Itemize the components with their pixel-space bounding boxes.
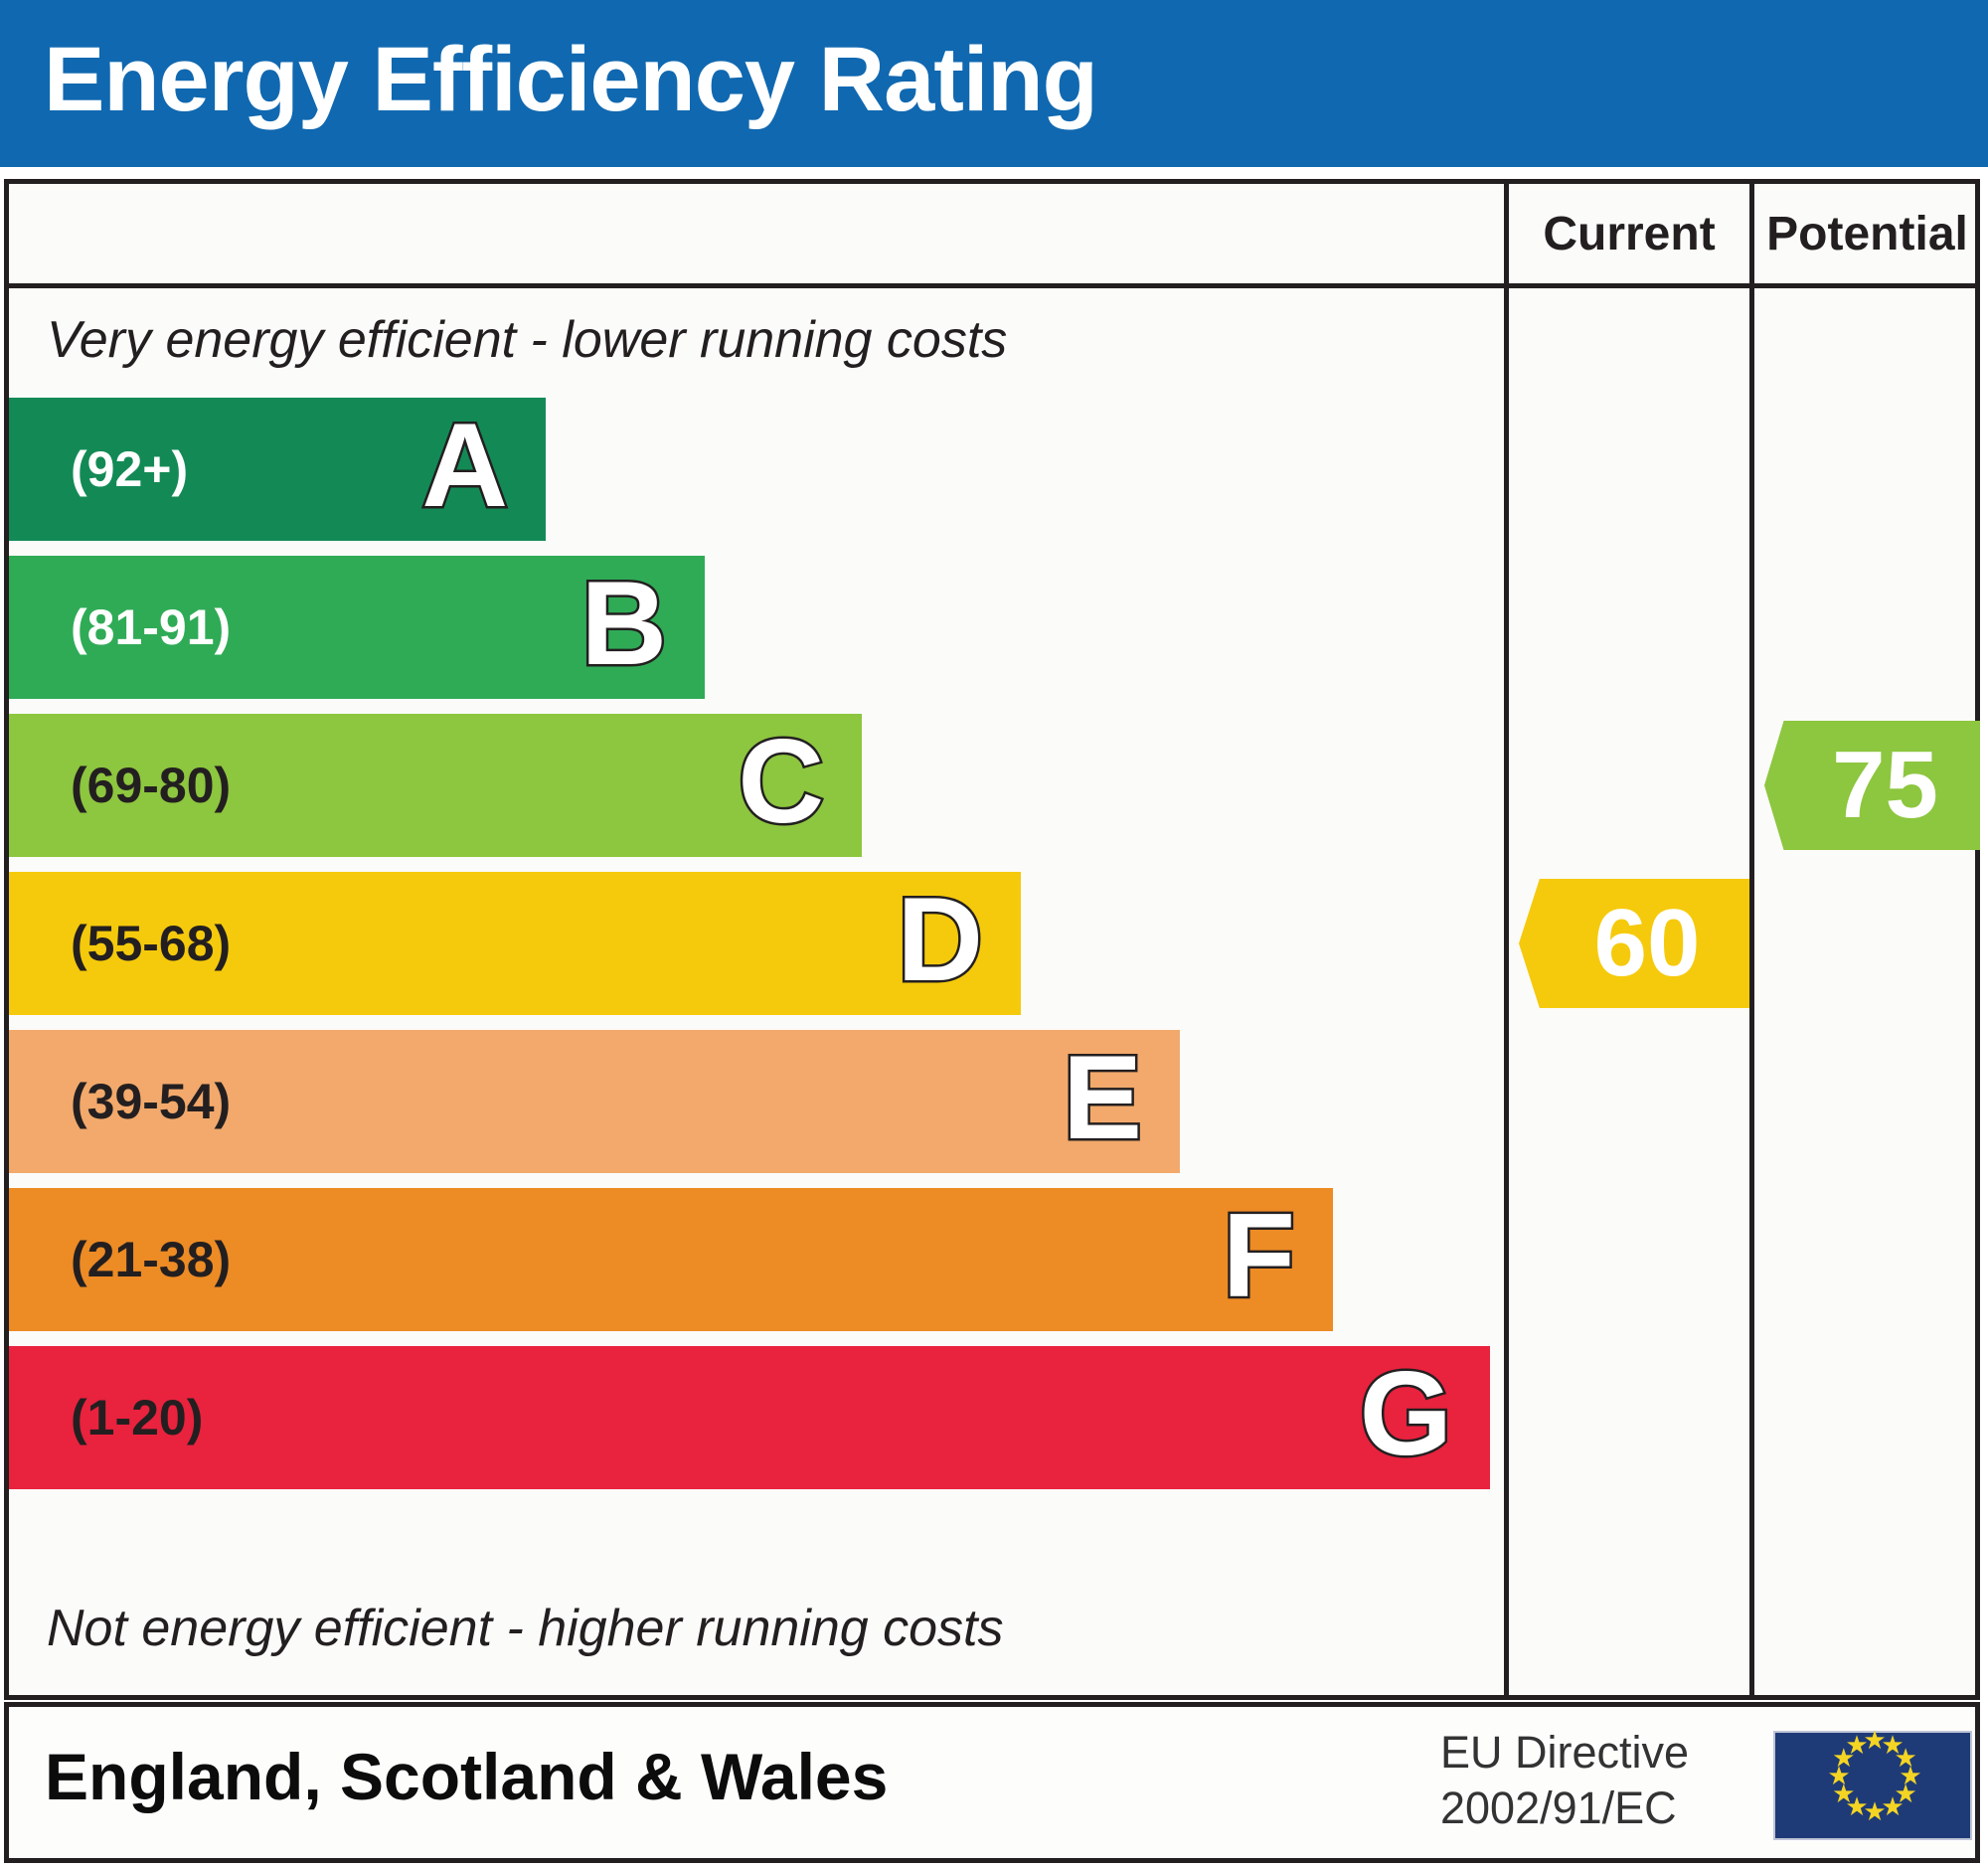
band-letter-e: E bbox=[1063, 1038, 1142, 1157]
band-range-b: (81-91) bbox=[71, 598, 231, 656]
caption-inefficient: Not energy efficient - higher running co… bbox=[47, 1599, 1004, 1658]
column-header-potential: Potential bbox=[1754, 184, 1980, 283]
rating-band-b: (81-91)B bbox=[9, 556, 705, 699]
rating-value-current: 60 bbox=[1569, 896, 1701, 991]
directive-line-1: EU Directive bbox=[1440, 1725, 1689, 1781]
caption-efficient: Very energy efficient - lower running co… bbox=[47, 310, 1007, 370]
rating-marker-potential: 75 bbox=[1764, 721, 1980, 850]
footer-directive-label: EU Directive 2002/91/EC bbox=[1440, 1725, 1689, 1836]
column-header-current: Current bbox=[1509, 184, 1749, 283]
band-range-a: (92+) bbox=[71, 440, 188, 498]
rating-band-a: (92+)A bbox=[9, 398, 546, 541]
rating-table: Current Potential Very energy efficient … bbox=[4, 179, 1980, 1700]
energy-efficiency-rating-chart: Energy Efficiency Rating Current Potenti… bbox=[0, 0, 1988, 1867]
band-range-f: (21-38) bbox=[71, 1231, 231, 1288]
page-title: Energy Efficiency Rating bbox=[44, 20, 1097, 139]
band-range-d: (55-68) bbox=[71, 915, 231, 972]
band-letter-c: C bbox=[738, 722, 824, 841]
rating-band-c: (69-80)C bbox=[9, 714, 862, 857]
column-divider-current bbox=[1504, 184, 1509, 1695]
band-area: Very energy efficient - lower running co… bbox=[9, 288, 1504, 1695]
band-letter-f: F bbox=[1223, 1196, 1295, 1315]
rating-band-d: (55-68)D bbox=[9, 872, 1021, 1015]
footer: England, Scotland & Wales EU Directive 2… bbox=[4, 1702, 1980, 1863]
band-range-e: (39-54) bbox=[71, 1073, 231, 1130]
band-letter-d: D bbox=[897, 880, 983, 999]
rating-band-g: (1-20)G bbox=[9, 1346, 1490, 1489]
rating-marker-current: 60 bbox=[1519, 879, 1749, 1008]
rating-band-e: (39-54)E bbox=[9, 1030, 1180, 1173]
band-range-c: (69-80) bbox=[71, 757, 231, 814]
footer-region-label: England, Scotland & Wales bbox=[45, 1739, 888, 1814]
band-letter-g: G bbox=[1360, 1354, 1452, 1473]
eu-flag-icon: ★★★★★★★★★★★★ bbox=[1773, 1731, 1972, 1840]
band-range-g: (1-20) bbox=[71, 1389, 203, 1446]
column-divider-potential bbox=[1749, 184, 1754, 1695]
title-bar: Energy Efficiency Rating bbox=[0, 0, 1988, 167]
rating-band-f: (21-38)F bbox=[9, 1188, 1333, 1331]
directive-line-2: 2002/91/EC bbox=[1440, 1781, 1689, 1836]
band-letter-b: B bbox=[580, 564, 667, 683]
band-letter-a: A bbox=[421, 406, 508, 525]
rating-value-potential: 75 bbox=[1806, 738, 1938, 833]
